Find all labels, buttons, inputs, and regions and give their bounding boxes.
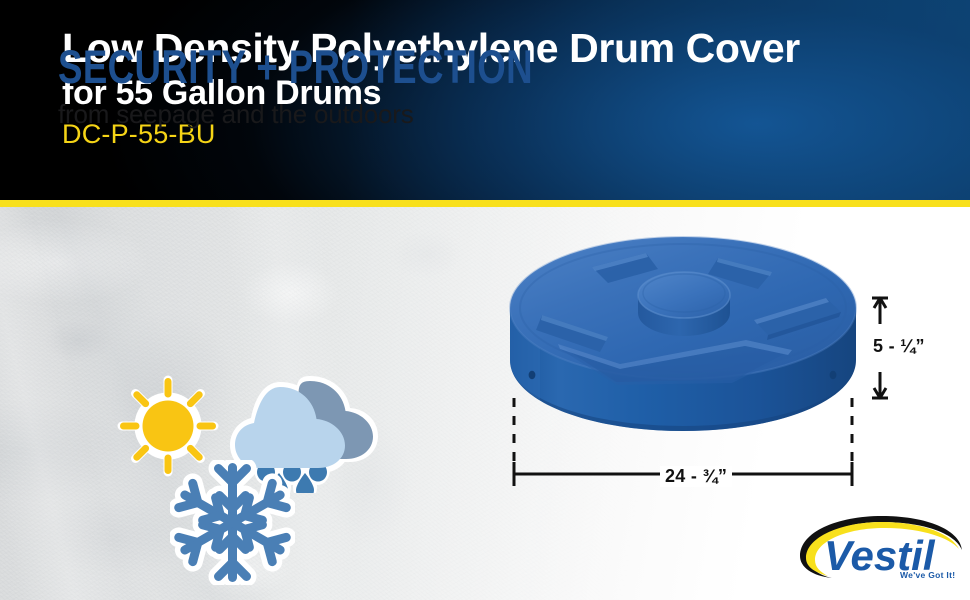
vestil-logo[interactable]: Vestil We've Got It! (792, 512, 964, 584)
headline-main: SECURITY + PROTECTION (58, 42, 533, 92)
snowflake-icon (170, 460, 295, 585)
dimension-width-label: 24 - ¾” (660, 466, 732, 487)
logo-tagline: We've Got It! (900, 570, 955, 580)
weather-icon-group (112, 368, 392, 583)
yellow-divider-stripe (0, 200, 970, 207)
dimension-height-label: 5 - ¼” (873, 336, 925, 357)
product-infographic-banner: Low Density Polyethylene Drum Cover for … (0, 0, 970, 600)
headline-block: SECURITY + PROTECTION from seepage and t… (58, 42, 667, 130)
product-drum-cover-image (496, 212, 970, 512)
headline-sub: from seepage and the outdoors (58, 98, 667, 130)
drum-cover-hub (638, 272, 730, 336)
